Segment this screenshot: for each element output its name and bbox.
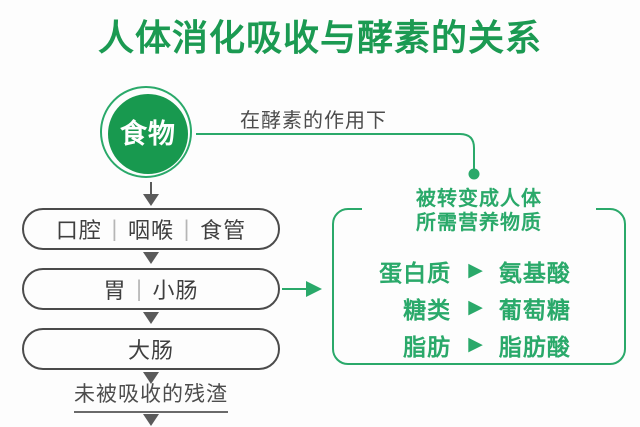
- pipeline-arrow-stage0-to-stage1: [143, 252, 159, 264]
- enzyme-connector-line: [196, 134, 474, 170]
- stage-part-label: 口腔: [56, 213, 102, 245]
- nutrient-result-label: 氨基酸: [497, 254, 626, 288]
- stage-separator: |: [102, 217, 128, 241]
- pipeline-arrow-circle-to-stage0: [143, 182, 159, 206]
- residue-label: 未被吸收的残渣: [74, 378, 228, 413]
- pipeline-arrow-residue-out: [143, 414, 159, 426]
- page-title: 人体消化吸收与酵素的关系: [0, 16, 640, 62]
- food-node: 食物: [100, 86, 196, 182]
- nutrient-row: 糖类 ▶ 葡萄糖: [332, 289, 626, 326]
- nutrient-result-label: 葡萄糖: [497, 291, 626, 325]
- stage-part-label: 咽喉: [128, 213, 174, 245]
- stage-part-label: 大肠: [128, 333, 174, 365]
- nutrient-heading-line-1: 被转变成人体: [362, 186, 596, 210]
- stage-part-label: 小肠: [153, 273, 199, 305]
- nutrient-panel-heading: 被转变成人体 所需营养物质: [362, 186, 596, 234]
- infographic-canvas: 人体消化吸收与酵素的关系 食物: [0, 0, 640, 427]
- enzyme-caption: 在酵素的作用下: [240, 104, 387, 133]
- stage-box-mouth-throat-esophagus: 口腔 | 咽喉 | 食管: [22, 208, 280, 250]
- nutrient-result-label: 脂肪酸: [497, 328, 626, 362]
- stage-separator: |: [174, 217, 200, 241]
- residue-note: 未被吸收的残渣: [22, 378, 280, 413]
- nutrient-source-label: 蛋白质: [332, 254, 455, 288]
- right-triangle-icon: ▶: [455, 298, 497, 317]
- pipeline-arrow-stage1-to-stage2: [143, 312, 159, 324]
- stage-box-large-intestine: 大肠: [22, 328, 280, 370]
- food-node-label: 食物: [120, 121, 176, 148]
- nutrient-source-label: 脂肪: [332, 328, 455, 362]
- right-triangle-icon: ▶: [455, 335, 497, 354]
- nutrient-row: 脂肪 ▶ 脂肪酸: [332, 326, 626, 363]
- nutrient-heading-line-2: 所需营养物质: [362, 210, 596, 234]
- nutrient-conversion-list: 蛋白质 ▶ 氨基酸 糖类 ▶ 葡萄糖 脂肪 ▶ 脂肪酸: [332, 252, 626, 363]
- stage-separator: |: [126, 277, 152, 301]
- stage-part-label: 食管: [200, 213, 246, 245]
- stage-box-stomach-small-intestine: 胃 | 小肠: [22, 268, 280, 310]
- nutrient-inflow-arrow: [282, 281, 322, 297]
- food-node-disc: 食物: [108, 94, 188, 174]
- stage-part-label: 胃: [103, 273, 126, 305]
- enzyme-connector-dot: [469, 169, 480, 180]
- nutrient-row: 蛋白质 ▶ 氨基酸: [332, 252, 626, 289]
- nutrient-source-label: 糖类: [332, 291, 455, 325]
- right-triangle-icon: ▶: [455, 261, 497, 280]
